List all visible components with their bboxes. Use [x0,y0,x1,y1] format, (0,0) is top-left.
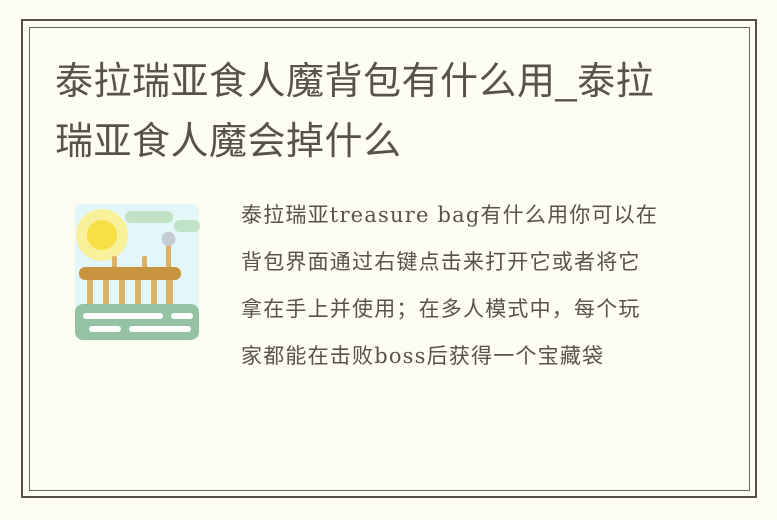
article-body-text: 泰拉瑞亚treasure bag有什么用你可以在背包界面通过右键点击来打开它或者… [241,192,661,380]
pier-dock-scene-icon [61,198,213,350]
article-body-section: 泰拉瑞亚treasure bag有什么用你可以在背包界面通过右键点击来打开它或者… [55,192,720,380]
article-content: 泰拉瑞亚食人魔背包有什么用_泰拉瑞亚食人魔会掉什么 [55,52,720,472]
article-page: 泰拉瑞亚食人魔背包有什么用_泰拉瑞亚食人魔会掉什么 [0,0,777,520]
page-title: 泰拉瑞亚食人魔背包有什么用_泰拉瑞亚食人魔会掉什么 [55,52,665,172]
article-thumbnail [61,198,213,350]
